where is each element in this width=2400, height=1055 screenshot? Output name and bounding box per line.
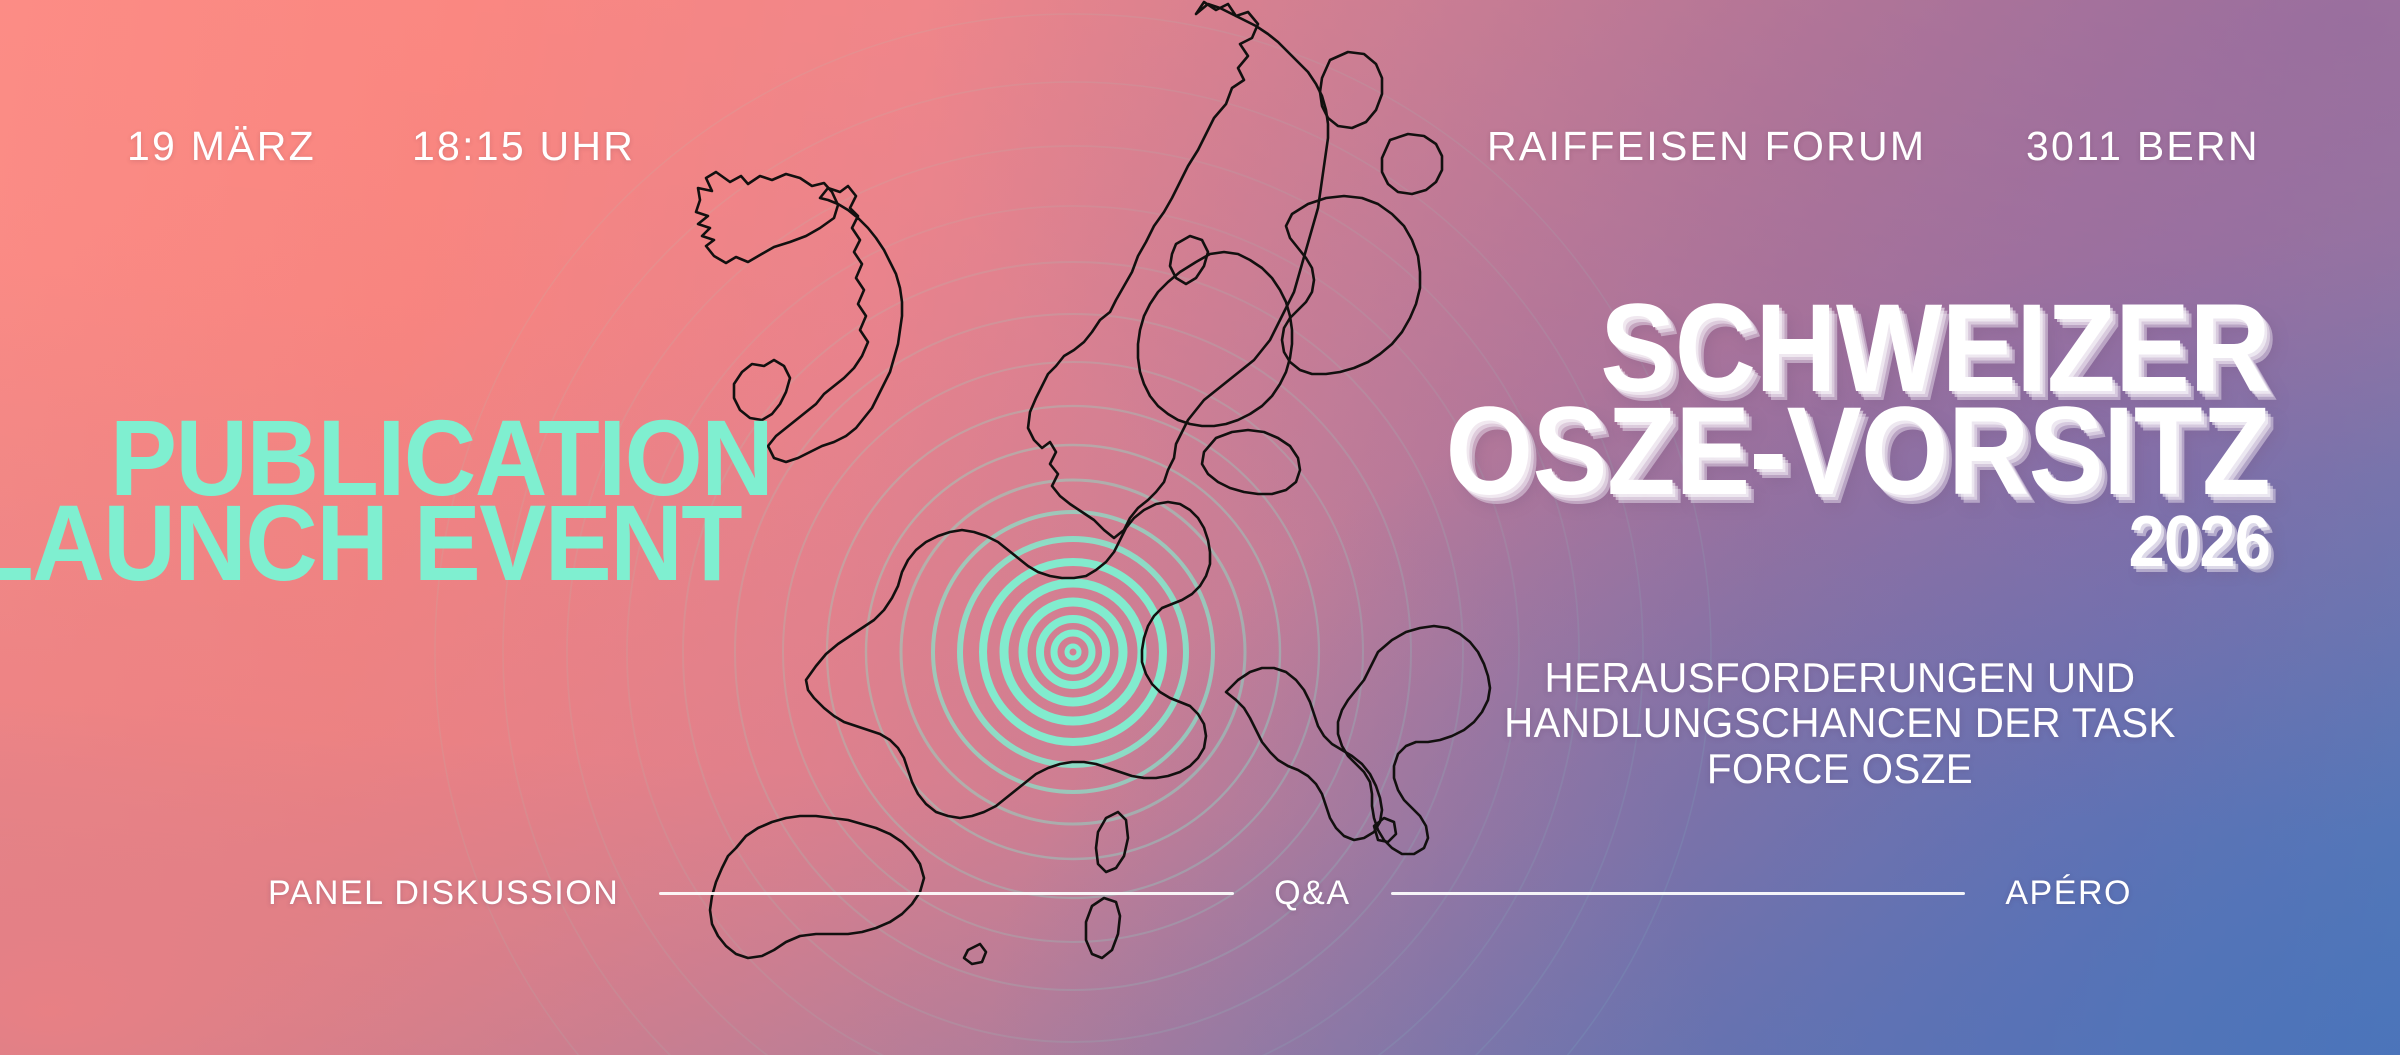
program-item-apero: APÉRO	[2005, 874, 2132, 913]
event-poster: 19 MÄRZ 18:15 UHR RAIFFEISEN FORUM 3011 …	[0, 0, 2400, 1055]
publication-launch-headline: PUBLICATION LAUNCH EVENT	[110, 415, 772, 586]
program-item-qa: Q&A	[1274, 874, 1350, 913]
title-year: 2026	[1445, 513, 2270, 572]
title-line-2: OSZE-VORSITZ	[1445, 401, 2270, 504]
event-venue: RAIFFEISEN FORUM	[1487, 123, 1926, 170]
subtitle-line-2: HANDLUNGSCHANCEN DER TASK	[1379, 700, 2301, 745]
subtitle-line-1: HERAUSFORDERUNGEN UND	[1379, 655, 2301, 700]
program-divider-1	[659, 892, 1234, 895]
program-strip: PANEL DISKUSSION Q&A APÉRO	[0, 871, 2400, 915]
event-time: 18:15 UHR	[412, 123, 635, 170]
subtitle-line-3: FORCE OSZE	[1379, 746, 2301, 791]
subtitle: HERAUSFORDERUNGEN UND HANDLUNGSCHANCEN D…	[1379, 655, 2301, 791]
program-divider-2	[1391, 892, 1966, 895]
main-title: SCHWEIZER OSZE-VORSITZ 2026	[1354, 298, 2270, 572]
headline-line-2: LAUNCH EVENT	[0, 500, 772, 585]
event-date: 19 MÄRZ	[127, 123, 316, 170]
event-city: 3011 BERN	[2026, 123, 2260, 170]
program-item-panel: PANEL DISKUSSION	[268, 874, 619, 913]
